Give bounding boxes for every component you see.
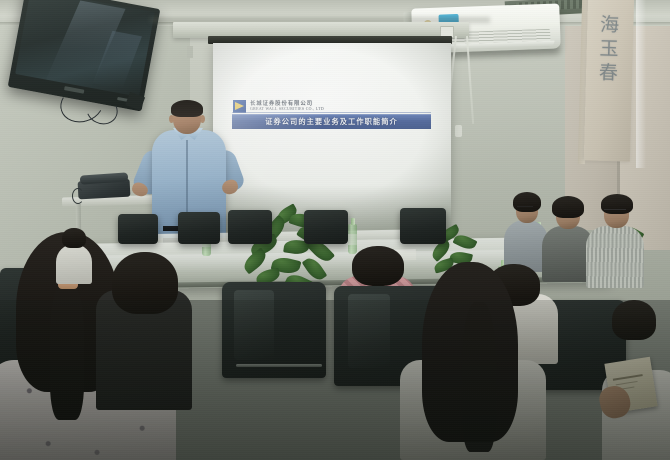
person-hair xyxy=(552,196,584,218)
slide-divider xyxy=(232,112,431,113)
person-ponytail xyxy=(50,284,84,420)
chair[interactable] xyxy=(400,208,446,244)
scroll-char-1: 海 xyxy=(600,16,620,35)
slide-title-text: 证券公司的主要业务及工作职能简介 xyxy=(232,114,431,129)
chair[interactable] xyxy=(118,214,158,244)
slide-title-banner: 证券公司的主要业务及工作职能简介 xyxy=(232,114,431,129)
phone-cord xyxy=(72,188,84,204)
slide-company-name-en: GREAT WALL SECURITIES CO., LTD xyxy=(250,107,324,111)
presenter-hair xyxy=(171,100,203,117)
water-bottle[interactable] xyxy=(348,224,357,254)
housing-bracket-left xyxy=(187,46,193,58)
glasses-icon xyxy=(517,206,533,211)
person-top xyxy=(586,226,644,288)
screen-cord-knob[interactable] xyxy=(455,125,462,137)
glasses-icon xyxy=(604,209,626,215)
person-top xyxy=(56,244,92,284)
wall-scroll-highlight xyxy=(636,0,646,168)
meeting-room-photo: 长城证券股份有限公司 GREAT WALL SECURITIES CO., LT… xyxy=(0,0,670,460)
chair-armrest[interactable] xyxy=(236,364,322,367)
chair[interactable] xyxy=(178,212,220,244)
person-hair xyxy=(352,246,404,286)
chair[interactable] xyxy=(228,210,272,244)
chair[interactable] xyxy=(304,210,348,244)
slide-company-name-cn: 长城证券股份有限公司 xyxy=(250,99,313,107)
scroll-char-3: 春 xyxy=(599,64,619,83)
person-ponytail xyxy=(462,302,496,452)
person-hair xyxy=(112,252,178,314)
wall-scroll-characters: 海 玉 春 xyxy=(595,16,623,84)
scroll-char-2: 玉 xyxy=(599,40,619,59)
person-hair xyxy=(612,300,656,340)
person-hair xyxy=(62,228,86,248)
